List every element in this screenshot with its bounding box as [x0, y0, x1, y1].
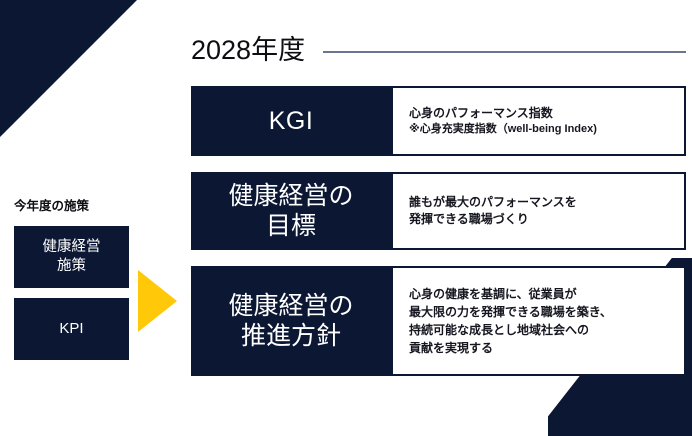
row-goal-label-text: 健康経営の 目標: [228, 181, 353, 242]
flow-arrow-right-icon: [138, 270, 177, 332]
row-policy-body-line-3: 持続可能な成長とし地域社会への: [409, 321, 684, 339]
sidebar: 今年度の施策 健康経営 施策 KPI: [14, 200, 129, 360]
heading-divider-rule: [323, 51, 686, 53]
row-goal-label[interactable]: 健康経営の 目標: [191, 172, 391, 250]
page-title: 2028年度: [191, 37, 305, 64]
row-goal-body: 誰もが最大のパフォーマンスを 発揮できる職場づくり: [391, 172, 686, 250]
row-kgi-body: 心身のパフォーマンス指数 ※心身充実度指数（well-being Index): [391, 86, 686, 156]
row-policy-label-text: 健康経営の 推進方針: [228, 291, 353, 352]
sidebar-caption: 今年度の施策: [14, 200, 129, 214]
slide-canvas: 2028年度 今年度の施策 健康経営 施策 KPI KGI 心身のパフォーマンス…: [0, 0, 692, 436]
row-health-management-goal: 健康経営の 目標 誰もが最大のパフォーマンスを 発揮できる職場づくり: [191, 172, 686, 250]
row-kgi-label[interactable]: KGI: [191, 86, 391, 156]
row-policy-body-line-2: 最大限の力を発揮できる職場を築き、: [409, 303, 684, 321]
row-health-management-policy: 健康経営の 推進方針 心身の健康を基調に、従業員が 最大限の力を発揮できる職場を…: [191, 266, 686, 376]
row-goal-body-line-2: 発揮できる職場づくり: [409, 211, 684, 228]
row-policy-body-line-1: 心身の健康を基調に、従業員が: [409, 285, 684, 303]
row-policy-label[interactable]: 健康経営の 推進方針: [191, 266, 391, 376]
row-kgi-label-text: KGI: [269, 106, 314, 137]
page-heading: 2028年度: [191, 30, 686, 70]
sidebar-item-label: 健康経営 施策: [43, 238, 101, 275]
sidebar-item-kpi[interactable]: KPI: [14, 298, 129, 360]
row-kgi: KGI 心身のパフォーマンス指数 ※心身充実度指数（well-being Ind…: [191, 86, 686, 156]
decorative-corner-triangle-top-left: [0, 0, 137, 137]
row-goal-body-line-1: 誰もが最大のパフォーマンスを: [409, 194, 684, 211]
row-policy-body-line-4: 貢献を実現する: [409, 339, 684, 357]
row-kgi-body-line-1: 心身のパフォーマンス指数: [409, 105, 684, 122]
sidebar-item-label: KPI: [59, 319, 83, 338]
sidebar-item-health-management-measures[interactable]: 健康経営 施策: [14, 226, 129, 288]
row-policy-body: 心身の健康を基調に、従業員が 最大限の力を発揮できる職場を築き、 持続可能な成長…: [391, 266, 686, 376]
row-kgi-body-line-2: ※心身充実度指数（well-being Index): [409, 122, 684, 138]
